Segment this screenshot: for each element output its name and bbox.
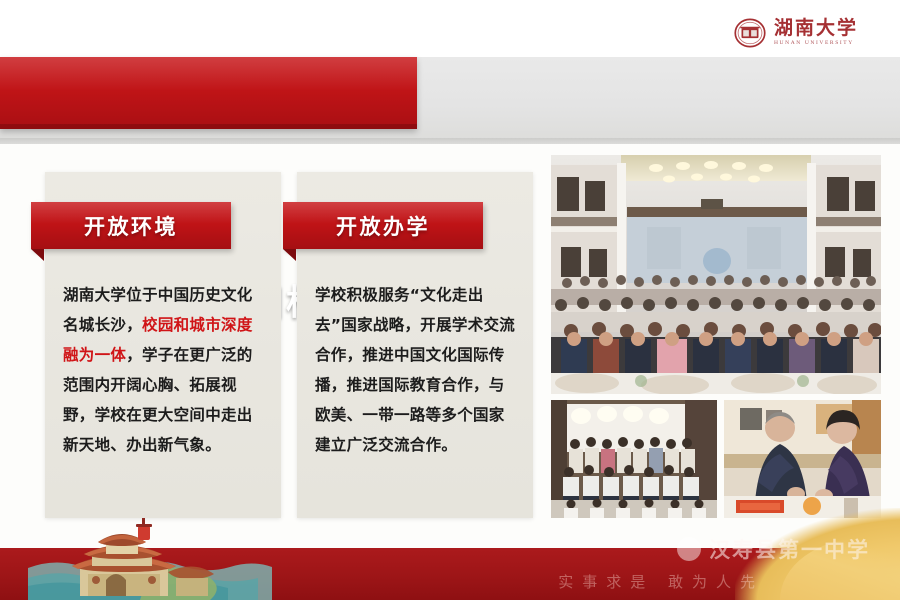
card-ribbon-open-environment: 开放环境	[31, 202, 231, 249]
logo-name-cn: 湖南大学	[774, 19, 858, 38]
chinese-pavilion-illustration	[28, 514, 300, 600]
footer-motto: 实事求是 敢为人先	[558, 571, 764, 592]
card-body-text: 湖南大学位于中国历史文化名城长沙，校园和城市深度融为一体，学子在更广泛的范围内开…	[63, 280, 267, 460]
ribbon-fold-icon	[31, 249, 44, 261]
ribbon-fold-icon	[283, 249, 296, 261]
banner-bottom-edge	[0, 124, 417, 129]
slide-title-banner	[0, 57, 417, 129]
card2-seg-0: 学校积极服务“文化走出去”国家战略，开展学术交流合作，推进中国文化国际传播，推进…	[315, 286, 515, 454]
slide-canvas: 湖南大学 HUNAN UNIVERSITY 最开放的校园格局 开放环境 湖南大学…	[0, 0, 900, 600]
card-ribbon-open-education: 开放办学	[283, 202, 483, 249]
school-seal-icon	[677, 537, 701, 561]
school-watermark-name: 汉寿县第一中学	[709, 534, 870, 564]
student-group-photo	[551, 400, 717, 518]
university-seal-icon	[733, 16, 767, 50]
cultural-exchange-photo	[724, 400, 881, 518]
card-ribbon-label: 开放办学	[283, 202, 483, 249]
assembly-hall-group-photo	[551, 155, 881, 394]
content-card-open-education: 开放办学 学校积极服务“文化走出去”国家战略，开展学术交流合作，推进中国文化国际…	[297, 172, 533, 518]
school-watermark: 汉寿县第一中学	[677, 534, 870, 564]
hunan-university-logo: 湖南大学 HUNAN UNIVERSITY	[733, 16, 858, 50]
banner-gloss	[0, 57, 417, 91]
content-card-open-environment: 开放环境 湖南大学位于中国历史文化名城长沙，校园和城市深度融为一体，学子在更广泛…	[45, 172, 281, 518]
card-ribbon-label: 开放环境	[31, 202, 231, 249]
card-body-text: 学校积极服务“文化走出去”国家战略，开展学术交流合作，推进中国文化国际传播，推进…	[315, 280, 519, 460]
logo-name-en: HUNAN UNIVERSITY	[774, 41, 858, 47]
